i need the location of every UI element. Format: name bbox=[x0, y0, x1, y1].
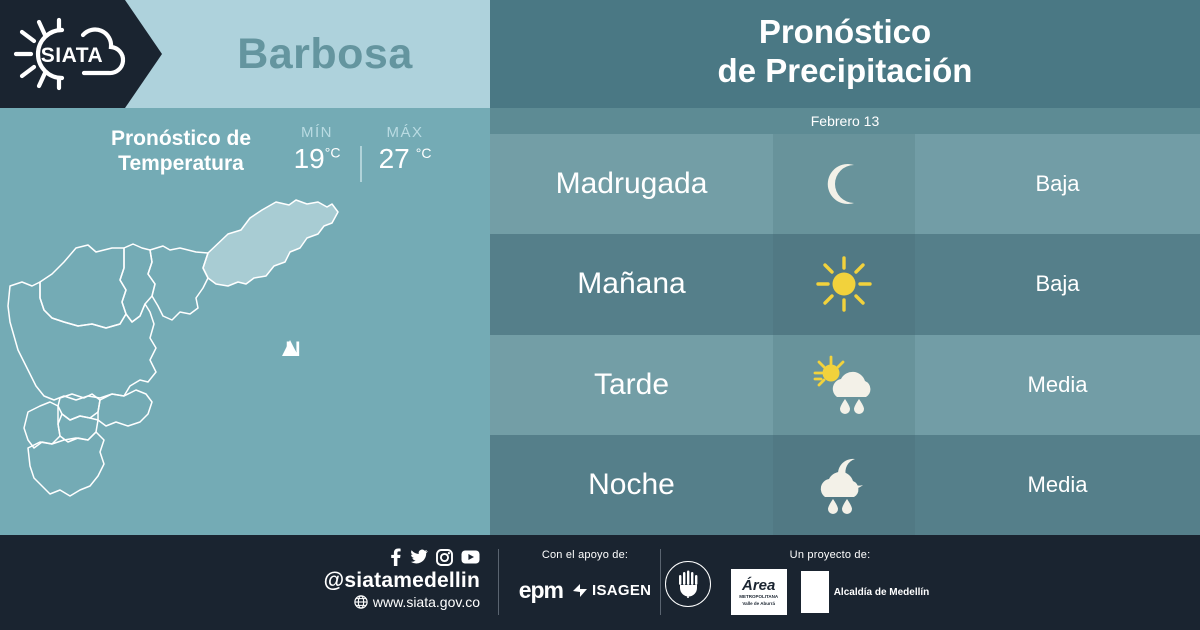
alcaldia-mark-icon bbox=[801, 571, 829, 613]
moon-icon bbox=[817, 157, 871, 211]
moon-cloud-rain-icon bbox=[811, 455, 877, 515]
row-icon-cell bbox=[773, 134, 915, 234]
precipitation-level: Baja bbox=[1035, 271, 1079, 297]
website-url[interactable]: www.siata.gov.co bbox=[373, 594, 480, 610]
period-label: Mañana bbox=[577, 267, 685, 301]
forecast-date: Febrero 13 bbox=[490, 108, 1200, 134]
row-level-cell: Baja bbox=[915, 234, 1200, 334]
footer: @siatamedellin www.siata.gov.co Con el a… bbox=[0, 535, 1200, 630]
max-unit: °C bbox=[416, 145, 432, 161]
social-icons bbox=[300, 547, 480, 567]
map-region-medellin bbox=[8, 282, 156, 400]
area-logo-name: Área bbox=[742, 579, 775, 592]
temperature-title: Pronóstico de Temperatura bbox=[86, 126, 276, 176]
page-title: Barbosa bbox=[160, 0, 490, 108]
isagen-mark-icon bbox=[573, 584, 589, 598]
table-row: Tarde bbox=[490, 335, 1200, 435]
aburra-valley-map: N bbox=[0, 190, 490, 535]
period-label: Madrugada bbox=[556, 167, 708, 201]
min-value: 19 bbox=[294, 143, 325, 174]
temperature-summary: Pronóstico de Temperatura MÍN 19°C MÁX 2… bbox=[0, 108, 490, 193]
map-region-la-estrella bbox=[24, 402, 60, 448]
footer-divider-2 bbox=[660, 549, 661, 615]
precipitation-panel: Pronóstico de Precipitación Febrero 13 M… bbox=[490, 0, 1200, 535]
north-label: N bbox=[277, 342, 309, 358]
precipitation-level: Baja bbox=[1035, 171, 1079, 197]
min-temperature: MÍN 19°C bbox=[278, 124, 356, 175]
project-logos: Área METROPOLITANA Valle de Aburrá Alcal… bbox=[700, 569, 960, 615]
period-label: Tarde bbox=[594, 368, 669, 402]
website-row[interactable]: www.siata.gov.co bbox=[300, 594, 480, 610]
row-icon-cell bbox=[773, 435, 915, 535]
row-period-cell: Tarde bbox=[490, 335, 773, 435]
north-indicator: N bbox=[277, 342, 309, 358]
max-value-wrap: 27°C bbox=[366, 143, 444, 175]
support-caption: Con el apoyo de: bbox=[505, 549, 665, 561]
support-block: Con el apoyo de: epm ISAGEN bbox=[505, 549, 665, 604]
row-icon-cell bbox=[773, 335, 915, 435]
table-row: Mañana bbox=[490, 234, 1200, 334]
temperature-title-line1: Pronóstico de bbox=[86, 126, 276, 151]
seal-hand-icon bbox=[675, 569, 701, 599]
project-caption: Un proyecto de: bbox=[700, 549, 960, 561]
precipitation-level: Media bbox=[1028, 472, 1088, 498]
sun-icon bbox=[815, 255, 873, 313]
precipitation-title: Pronóstico de Precipitación bbox=[490, 12, 1200, 90]
siata-logo-text: SIATA bbox=[41, 44, 103, 67]
row-period-cell: Madrugada bbox=[490, 134, 773, 234]
alcaldia-medellin-logo: Alcaldía de Medellín bbox=[801, 571, 930, 613]
forecast-table: Madrugada Baja Mañana bbox=[490, 134, 1200, 535]
min-unit: °C bbox=[325, 145, 341, 161]
siata-logo-icon: SIATA bbox=[12, 16, 130, 92]
area-logo-sub2: Valle de Aburrá bbox=[742, 601, 775, 606]
map-svg bbox=[0, 190, 490, 535]
temperature-title-line2: Temperatura bbox=[86, 151, 276, 176]
row-icon-cell bbox=[773, 234, 915, 334]
alcaldia-label: Alcaldía de Medellín bbox=[834, 587, 930, 598]
min-value-wrap: 19°C bbox=[278, 143, 356, 175]
twitter-icon[interactable] bbox=[410, 548, 428, 566]
facebook-icon[interactable] bbox=[389, 548, 402, 566]
min-max-group: MÍN 19°C MÁX 27°C bbox=[278, 124, 468, 186]
map-region-bello bbox=[40, 245, 126, 328]
social-handle[interactable]: @siatamedellin bbox=[300, 569, 480, 593]
footer-divider-1 bbox=[498, 549, 499, 615]
row-period-cell: Noche bbox=[490, 435, 773, 535]
period-label: Noche bbox=[588, 468, 675, 502]
map-region-girardota bbox=[148, 246, 208, 320]
social-block: @siatamedellin www.siata.gov.co bbox=[300, 547, 480, 610]
temperature-panel: Barbosa SIATA Pronóstico bbox=[0, 0, 490, 535]
isagen-label: ISAGEN bbox=[592, 582, 651, 599]
max-label: MÁX bbox=[366, 124, 444, 141]
globe-icon bbox=[354, 595, 368, 609]
sun-cloud-rain-icon bbox=[811, 355, 877, 415]
project-block: Un proyecto de: Área METROPOLITANA Valle… bbox=[700, 549, 960, 615]
min-label: MÍN bbox=[278, 124, 356, 141]
precipitation-level: Media bbox=[1028, 372, 1088, 398]
instagram-icon[interactable] bbox=[436, 549, 453, 566]
isagen-logo: ISAGEN bbox=[573, 582, 651, 599]
precipitation-title-line1: Pronóstico bbox=[490, 12, 1200, 51]
row-level-cell: Baja bbox=[915, 134, 1200, 234]
table-row: Madrugada Baja bbox=[490, 134, 1200, 234]
support-logos: epm ISAGEN bbox=[505, 577, 665, 604]
precipitation-title-line2: de Precipitación bbox=[490, 51, 1200, 90]
min-max-divider bbox=[360, 146, 362, 182]
row-period-cell: Mañana bbox=[490, 234, 773, 334]
max-value: 27 bbox=[379, 143, 410, 174]
area-logo-sub1: METROPOLITANA bbox=[739, 594, 778, 599]
map-region-caldas bbox=[28, 432, 104, 496]
epm-logo: epm bbox=[519, 577, 563, 604]
table-row: Noche Media bbox=[490, 435, 1200, 535]
row-level-cell: Media bbox=[915, 335, 1200, 435]
area-metropolitana-logo: Área METROPOLITANA Valle de Aburrá bbox=[731, 569, 787, 615]
weather-forecast-poster: Barbosa SIATA Pronóstico bbox=[0, 0, 1200, 630]
max-temperature: MÁX 27°C bbox=[366, 124, 444, 175]
map-region-barbosa bbox=[203, 200, 338, 286]
youtube-icon[interactable] bbox=[461, 550, 480, 564]
row-level-cell: Media bbox=[915, 435, 1200, 535]
